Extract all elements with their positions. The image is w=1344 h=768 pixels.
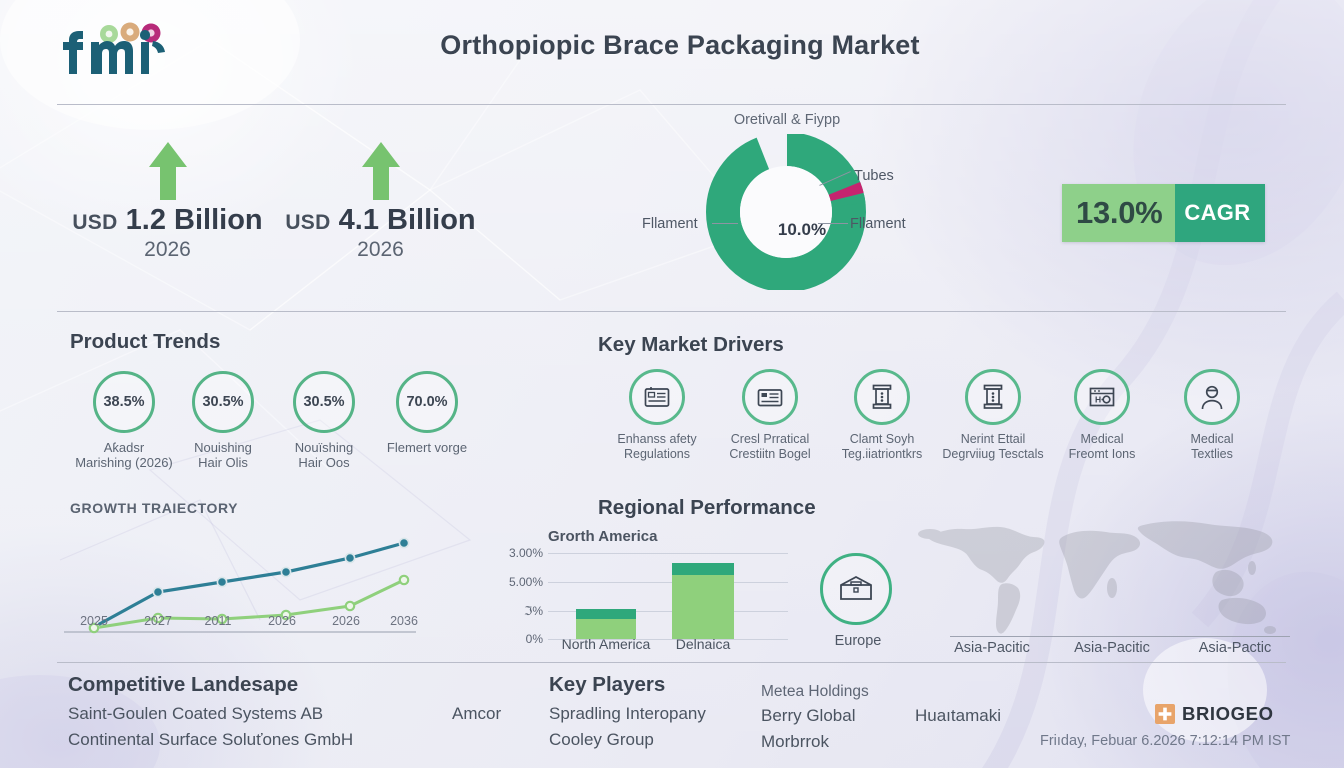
driver-ring-1 — [629, 369, 685, 425]
bar-gridline-1 — [548, 553, 788, 554]
growth-x-axis-labels: 2025 2027 2011 2026 2026 2036 — [64, 614, 436, 636]
header-divider — [57, 104, 1286, 105]
kpi-amount-2: 4.1 Billion — [339, 204, 476, 236]
kpi-value-2: USD 4.1 Billion — [278, 204, 483, 237]
driver-ring-3 — [854, 369, 910, 425]
product-trends-title: Product Trends — [70, 330, 220, 354]
bar-y-label-2: 5.00% — [509, 575, 543, 589]
map-label-2: Asia-Pacitic — [1074, 640, 1150, 656]
kpi-value-1: USD 1.2 Billion — [60, 204, 275, 237]
trend-value-4: 70.0% — [406, 394, 447, 410]
driver-caption-1: Enhanss afety Regulations — [601, 432, 713, 462]
key-player-col1-1: Spradling Interopany — [549, 704, 706, 724]
driver-item-3: Clamt Soyh Teg.iiatriontkrs — [826, 369, 938, 462]
driver-item-6: Medical Textlies — [1156, 369, 1268, 462]
key-drivers-title: Key Market Drivers — [598, 333, 784, 357]
driver-caption-4: Nerint Ettail Degrviiug Tesctals — [937, 432, 1049, 462]
bar-north-america — [576, 609, 636, 639]
key-player-col3-1: Huaıtamaki — [915, 706, 1001, 726]
growth-x-label-2: 2027 — [144, 614, 172, 628]
regional-bar-x-labels: North America Delnaica — [548, 636, 788, 658]
driver-caption-5: Medical Freomt Ions — [1046, 432, 1158, 462]
driver-ring-6 — [1184, 369, 1240, 425]
bar-y-label-1: 3.00% — [509, 546, 543, 560]
key-players-title: Key Players — [549, 673, 665, 697]
page-title: Orthopiopic Brace Packaging Market — [300, 30, 1060, 61]
cross-badge-icon — [1155, 704, 1175, 724]
package-box-icon — [838, 574, 874, 604]
up-arrow-icon — [147, 140, 189, 202]
key-player-col2-2: Berry Global — [761, 706, 855, 726]
driver-ring-5: H — [1074, 369, 1130, 425]
trend-ring-4: 70.0% — [396, 371, 458, 433]
competitive-landscape-title: Competitive Landesape — [68, 673, 298, 697]
growth-x-label-4: 2026 — [268, 614, 296, 628]
driver-ring-2 — [742, 369, 798, 425]
growth-x-label-5: 2026 — [332, 614, 360, 628]
map-region-labels: Asia-Pacitic Asia-Pacitic Asia-Pactic — [916, 640, 1316, 662]
donut-chart: Oretivall & Fiypp 10.0% Tubes Fllament F… — [622, 112, 952, 292]
driver-item-2: Cresl Prratical Crestiitn Bogel — [714, 369, 826, 462]
donut-chart-title: Oretivall & Fiypp — [622, 112, 952, 128]
map-label-1: Asia-Pacitic — [954, 640, 1030, 656]
key-player-col2-3: Morbrrok — [761, 732, 829, 752]
growth-x-label-6: 2036 — [390, 614, 418, 628]
competitive-item-1: Saint-Goulen Coated Systems AB — [68, 704, 323, 724]
amcor-label: Amcor — [452, 704, 501, 724]
trend-value-2: 30.5% — [202, 394, 243, 410]
id-card-icon — [757, 386, 783, 408]
kpi-card-1: USD 1.2 Billion 2026 — [60, 140, 275, 262]
growth-chart-title: GROWTH TRAIECTORY — [70, 500, 238, 516]
bar-y-label-3: ℑ% — [524, 604, 543, 618]
world-map — [916, 512, 1316, 640]
person-icon — [1200, 385, 1224, 410]
regional-performance-title: Regional Performance — [598, 496, 816, 520]
trend-value-3: 30.5% — [303, 394, 344, 410]
fmi-logo — [57, 22, 177, 78]
trend-caption-2: Nouishing Hair Olis — [169, 440, 277, 470]
up-arrow-icon — [360, 140, 402, 202]
bar-gridline-2 — [548, 582, 788, 583]
section-divider-bottom — [57, 662, 1286, 663]
kpi-currency-1: USD — [72, 211, 117, 234]
briogeo-logo: BRIOGEO — [1155, 703, 1274, 725]
growth-x-label-3: 2011 — [205, 614, 232, 628]
trend-ring-2: 30.5% — [192, 371, 254, 433]
bar-y-label-4: 0% — [526, 632, 543, 646]
trend-item-3: 30.5% Nouïshing Hair Oos — [270, 371, 378, 470]
trend-item-1: 38.5% Aƙadsr Marishing (2026) — [70, 371, 178, 470]
map-axis-line — [950, 636, 1290, 637]
briogeo-name: BRIOGEO — [1182, 703, 1274, 725]
driver-caption-6: Medical Textlies — [1156, 432, 1268, 462]
leader-line-filament-left — [712, 223, 738, 224]
cagr-label: CAGR — [1175, 184, 1265, 242]
map-label-3: Asia-Pactic — [1199, 640, 1272, 656]
donut-label-filament-right: Fllament — [850, 216, 906, 232]
driver-ring-4 — [965, 369, 1021, 425]
trend-value-1: 38.5% — [103, 394, 144, 410]
key-player-col1-2: Cooley Group — [549, 730, 654, 750]
trend-ring-3: 30.5% — [293, 371, 355, 433]
trend-item-4: 70.0% Flemert vorge — [373, 371, 481, 455]
canister-icon — [871, 384, 893, 410]
driver-caption-3: Clamt Soyh Teg.iiatriontkrs — [826, 432, 938, 462]
driver-caption-2: Cresl Prratical Crestiitn Bogel — [714, 432, 826, 462]
trend-ring-1: 38.5% — [93, 371, 155, 433]
canister-icon — [982, 384, 1004, 410]
growth-x-label-1: 2025 — [80, 614, 108, 628]
kpi-amount-1: 1.2 Billion — [126, 204, 263, 236]
cagr-value: 13.0% — [1062, 184, 1175, 242]
driver-item-5: H Medical Freomt Ions — [1046, 369, 1158, 462]
cagr-badge: 13.0% CAGR — [1062, 184, 1265, 242]
regional-subtitle: Grorth America — [548, 528, 657, 545]
id-card-icon — [644, 386, 670, 408]
timestamp: Friıday, Febuar 6.2026 7:12:14 PM IST — [1040, 733, 1290, 749]
bar-x-label-2: Delnaica — [676, 636, 730, 652]
section-divider-top — [57, 311, 1286, 312]
donut-label-filament-left: Fllament — [642, 216, 698, 232]
europe-ring — [820, 553, 892, 625]
leader-line-filament-right — [818, 223, 848, 224]
monitor-icon: H — [1089, 386, 1115, 408]
bar-delnaica — [672, 563, 734, 639]
kpi-card-2: USD 4.1 Billion 2026 — [278, 140, 483, 262]
bar-x-label-1: North America — [562, 636, 651, 652]
kpi-year-1: 2026 — [60, 238, 275, 262]
europe-label: Europe — [820, 633, 896, 649]
driver-item-1: Enhanss afety Regulations — [601, 369, 713, 462]
regional-bar-chart: 3.00% 5.00% ℑ% 0% — [548, 545, 788, 640]
donut-chart-svg — [704, 134, 868, 290]
trend-caption-4: Flemert vorge — [373, 440, 481, 455]
key-player-col2-1: Metea Holdings — [761, 683, 869, 701]
trend-caption-1: Aƙadsr Marishing (2026) — [70, 440, 178, 470]
driver-item-4: Nerint Ettail Degrviiug Tesctals — [937, 369, 1049, 462]
europe-tile: Europe — [820, 553, 896, 649]
trend-item-2: 30.5% Nouishing Hair Olis — [169, 371, 277, 470]
competitive-item-2: Continental Surface Soluťones GmbH — [68, 730, 353, 750]
trend-caption-3: Nouïshing Hair Oos — [270, 440, 378, 470]
svg-text:H: H — [1095, 395, 1101, 405]
donut-label-tubes: Tubes — [854, 168, 894, 184]
kpi-year-2: 2026 — [278, 238, 483, 262]
kpi-currency-2: USD — [285, 211, 330, 234]
